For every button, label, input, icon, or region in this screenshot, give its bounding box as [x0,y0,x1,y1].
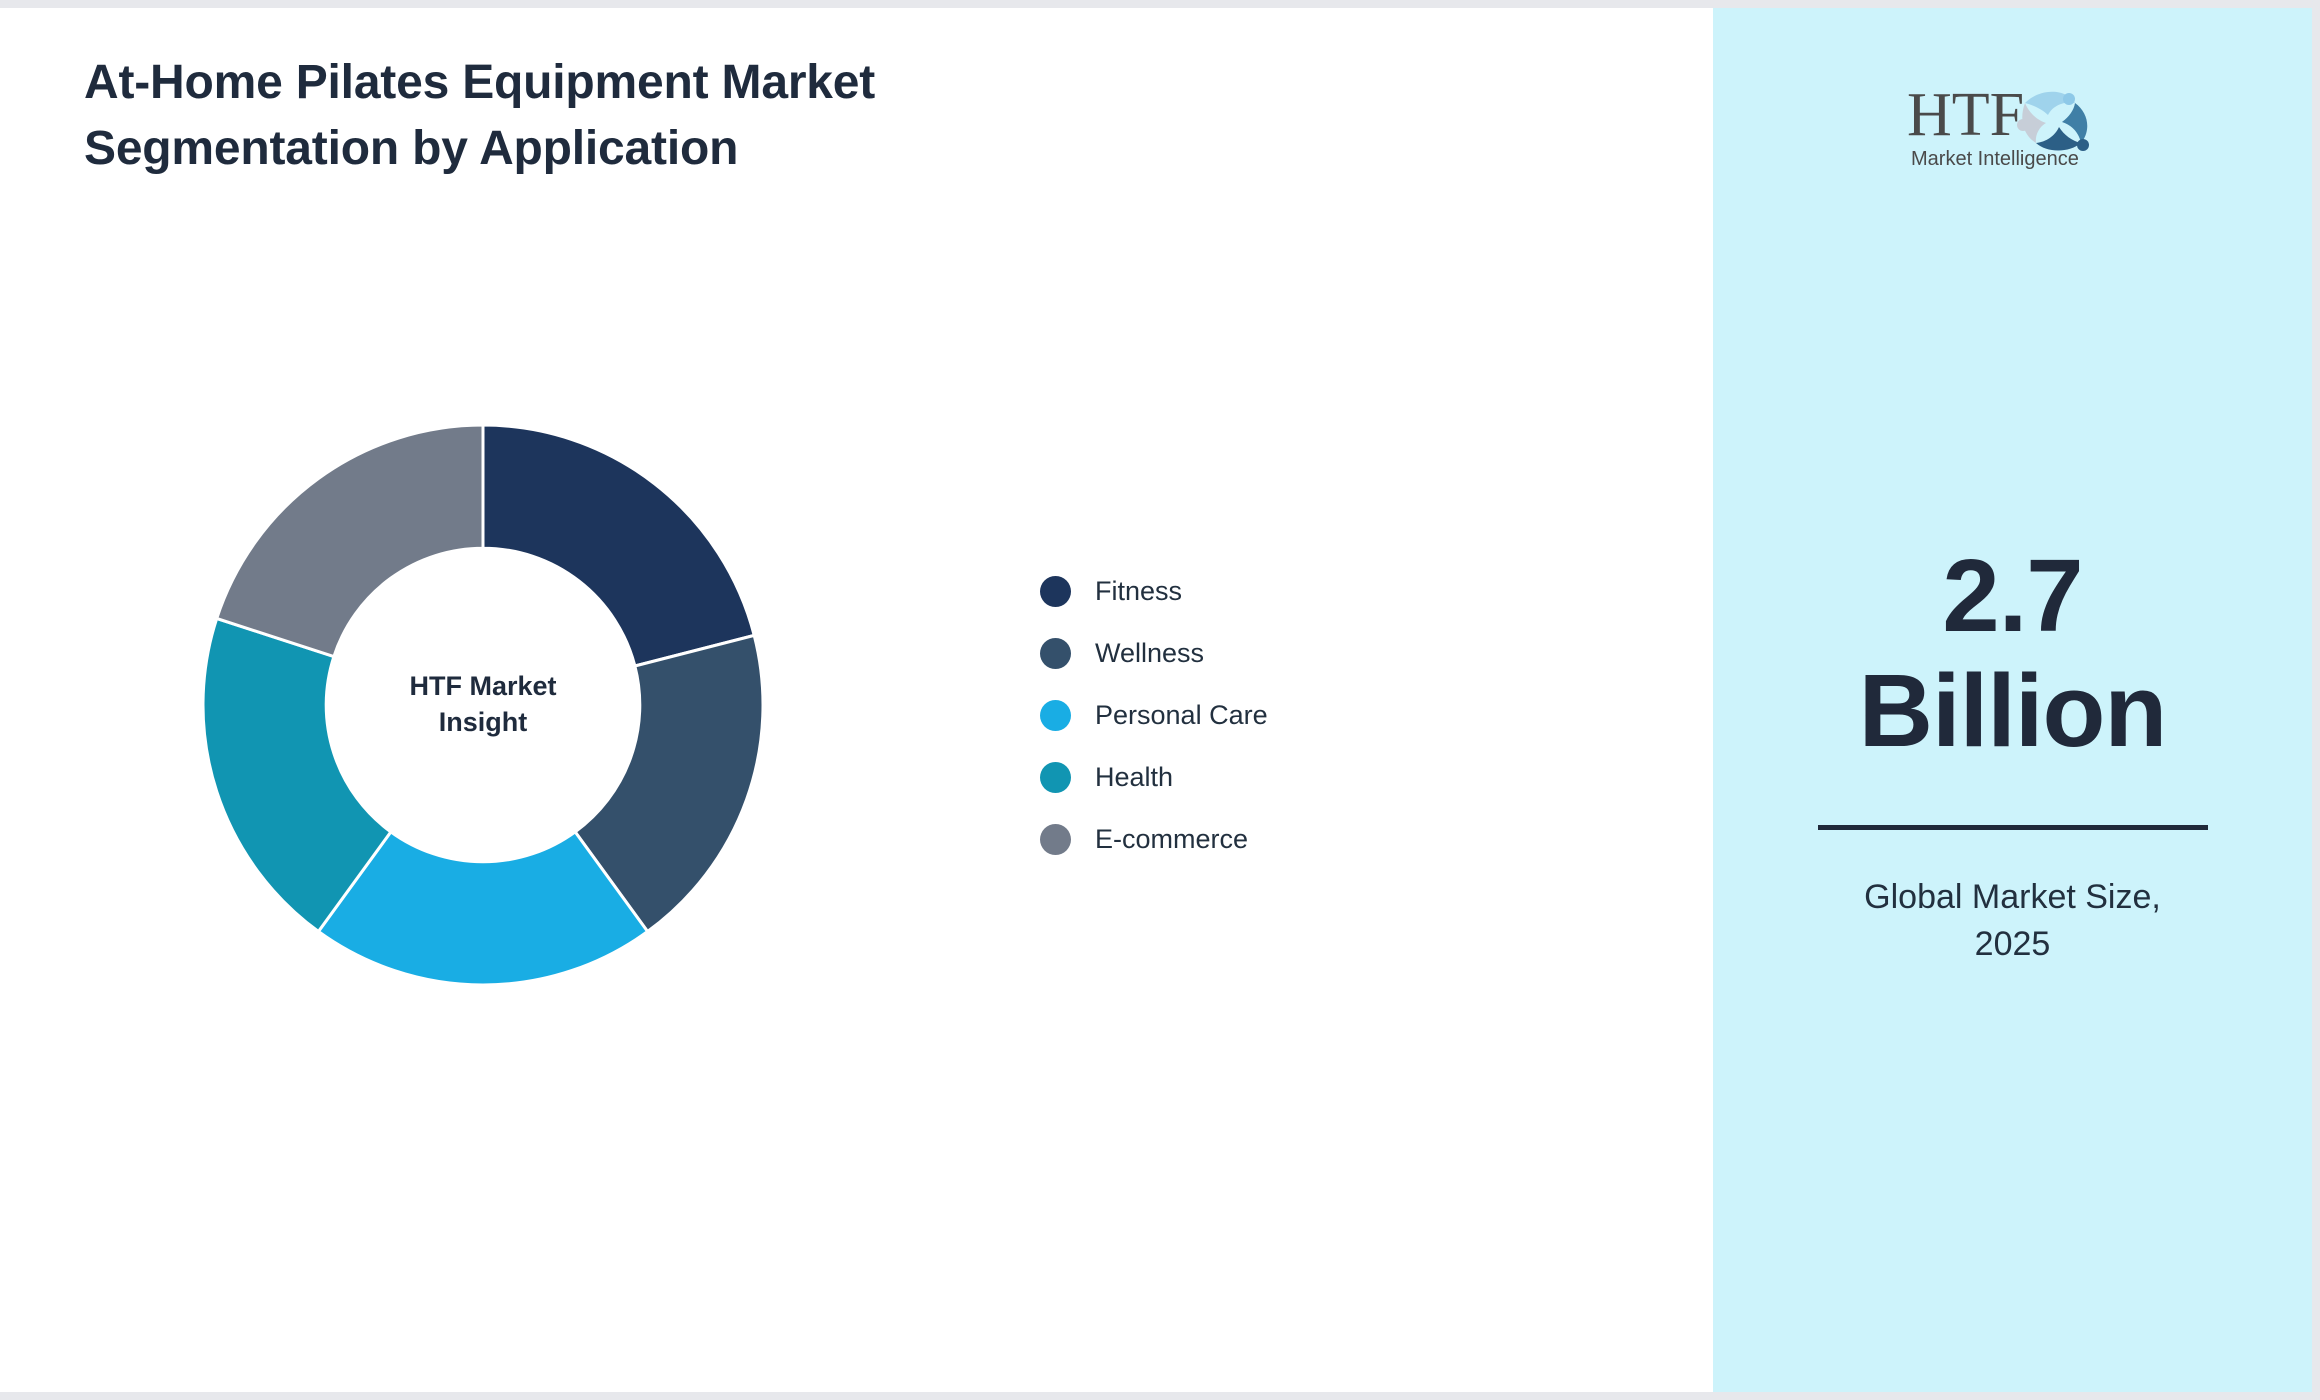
legend-item-label: Fitness [1095,576,1182,607]
legend-swatch-icon [1040,576,1071,607]
legend-swatch-icon [1040,638,1071,669]
legend-item: E-commerce [1040,808,1268,870]
htf-logo-tagline: Market Intelligence [1911,148,2079,170]
legend-swatch-icon [1040,824,1071,855]
htf-logo-svg: HTF Market Intelligence [1903,73,2123,173]
donut-slice-e-commerce [217,425,483,657]
market-size-stat: 2.7 Billion Global Market Size, 2025 [1803,538,2223,968]
page-title: At-Home Pilates Equipment Market Segment… [84,50,1144,182]
legend-item-label: Wellness [1095,638,1204,669]
legend-item: Fitness [1040,560,1268,622]
stat-divider [1818,825,2208,830]
htf-logo-mark-text: HTF [1907,81,2024,149]
market-size-value-line1: 2.7 [1803,538,2223,653]
legend-swatch-icon [1040,762,1071,793]
market-size-caption: Global Market Size, 2025 [1803,874,2223,968]
legend-item: Health [1040,746,1268,808]
legend-item-label: Health [1095,762,1173,793]
legend-item-label: E-commerce [1095,824,1248,855]
donut-slice-fitness [483,425,754,666]
donut-chart-svg [203,425,763,985]
chart-card: At-Home Pilates Equipment Market Segment… [0,8,1713,1392]
legend-item: Wellness [1040,622,1268,684]
legend-item: Personal Care [1040,684,1268,746]
htf-logo: HTF Market Intelligence [1903,73,2123,173]
chart-legend: FitnessWellnessPersonal CareHealthE-comm… [1040,560,1268,870]
market-size-value-line2: Billion [1803,653,2223,768]
donut-chart: HTF Market Insight [203,425,763,985]
market-size-caption-line2: 2025 [1803,921,2223,968]
sidebar-panel: HTF Market Intelligence 2.7 Billion [1713,8,2312,1392]
legend-swatch-icon [1040,700,1071,731]
legend-item-label: Personal Care [1095,700,1268,731]
htf-logo-emblem-icon [2017,92,2089,151]
infographic-root: At-Home Pilates Equipment Market Segment… [0,0,2320,1400]
market-size-caption-line1: Global Market Size, [1803,874,2223,921]
